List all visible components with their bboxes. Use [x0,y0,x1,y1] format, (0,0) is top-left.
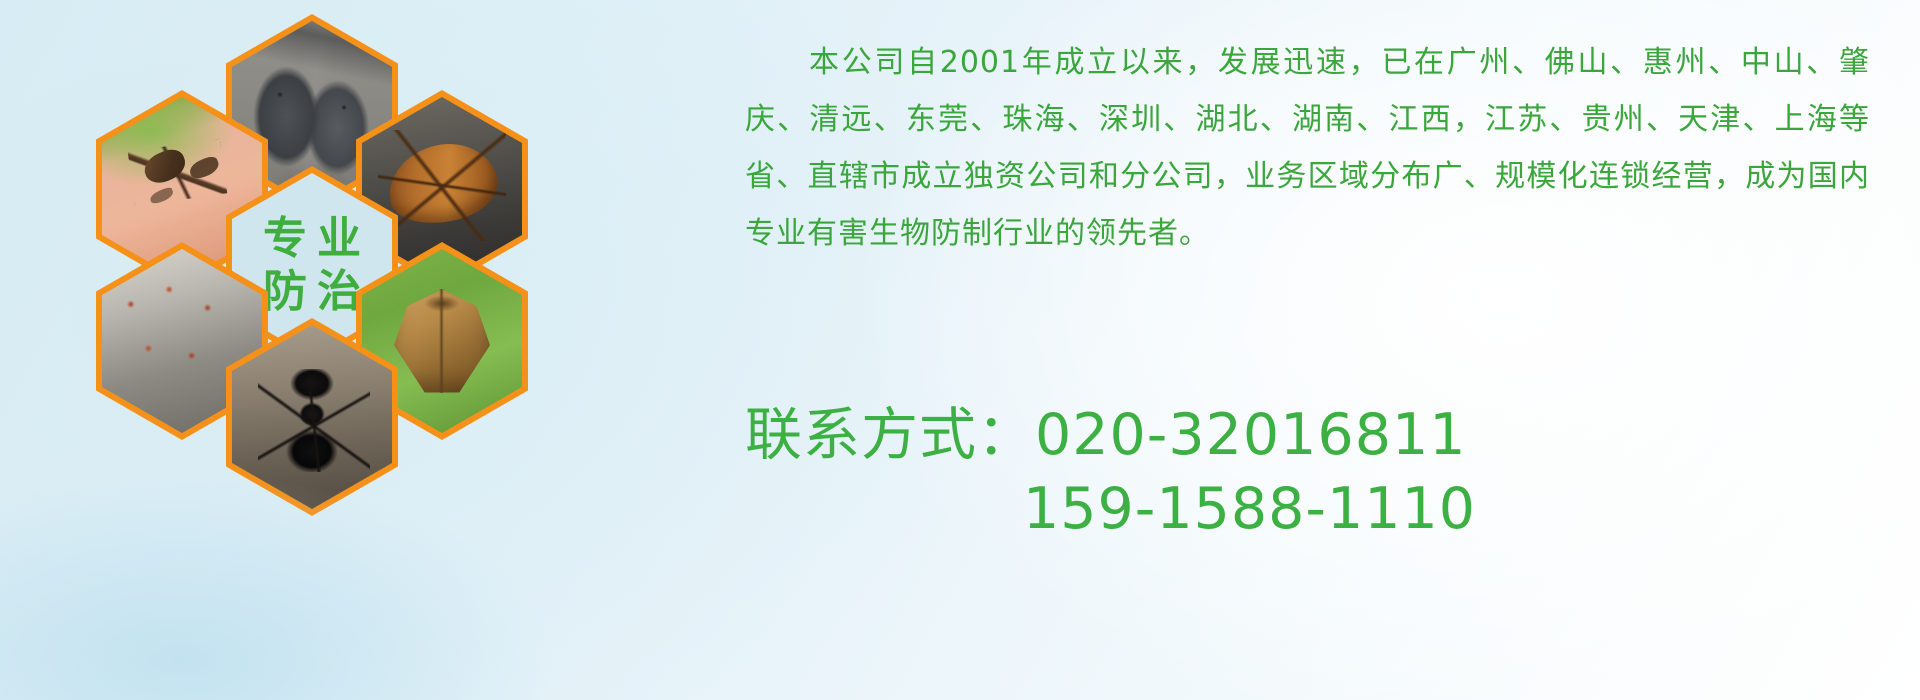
contact-line-primary: 联系方式：020-32016811 [745,398,1870,472]
company-intro-block: 本公司自2001年成立以来，发展迅速，已在广州、佛山、惠州、中山、肇庆、清远、东… [745,34,1870,262]
slogan-line-1: 专业 [253,214,371,263]
pest-control-banner: 专业 防治 本公司自2001年成立以来，发展迅速，已在广州、佛山、惠州、中山、肇… [0,0,1920,700]
contact-line-secondary: 159-1588-1110 [745,472,1870,546]
contact-block: 联系方式：020-32016811 159-1588-1110 [745,398,1870,546]
honeycomb-photo-cluster: 专业 防治 [78,8,598,568]
ant-photo [232,325,392,509]
company-intro-paragraph: 本公司自2001年成立以来，发展迅速，已在广州、佛山、惠州、中山、肇庆、清远、东… [745,34,1870,262]
slogan-line-2: 防治 [253,267,371,316]
